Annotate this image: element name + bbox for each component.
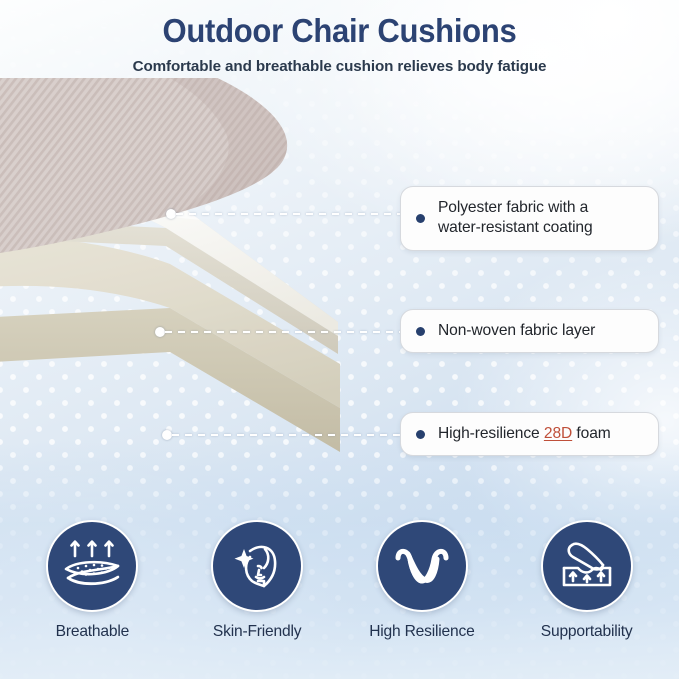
callout-line-1: Non-woven fabric layer	[438, 322, 595, 339]
leader-dash	[172, 434, 410, 436]
spring-coil-icon	[391, 541, 453, 591]
feature-label: Skin-Friendly	[213, 623, 301, 641]
callout-line-1: Polyester fabric with a	[438, 199, 588, 216]
leader-knob	[162, 430, 172, 440]
callout-text: Polyester fabric with a water-resistant …	[438, 198, 593, 239]
feature-label: Supportability	[541, 623, 633, 641]
callout-polyester-fabric: Polyester fabric with a water-resistant …	[400, 186, 659, 251]
feature-supportability: Supportability	[512, 520, 662, 641]
leader-line-polyester	[166, 209, 410, 219]
feature-icon-circle	[211, 520, 303, 612]
callout-text-prefix: High-resilience	[438, 425, 544, 442]
feature-label: High Resilience	[369, 623, 474, 641]
feature-icon-circle	[46, 520, 138, 612]
face-sparkle-icon	[228, 537, 286, 595]
infographic-root: Outdoor Chair Cushions Comfortable and b…	[0, 0, 679, 679]
callout-density-highlight: 28D	[544, 425, 572, 442]
hand-press-foam-icon	[556, 537, 618, 595]
callout-text: Non-woven fabric layer	[438, 321, 595, 341]
feature-breathable: Breathable	[17, 520, 167, 641]
leader-line-nonwoven	[155, 327, 410, 337]
callout-text: High-resilience 28D foam	[438, 424, 611, 444]
callout-text-suffix: foam	[572, 425, 611, 442]
bullet-dot-icon	[416, 327, 425, 336]
page-subtitle: Comfortable and breathable cushion relie…	[0, 58, 679, 75]
header: Outdoor Chair Cushions Comfortable and b…	[0, 14, 679, 75]
bullet-dot-icon	[416, 430, 425, 439]
leader-dash	[165, 331, 410, 333]
feature-icon-circle	[541, 520, 633, 612]
callout-non-woven-layer: Non-woven fabric layer	[400, 309, 659, 353]
leader-line-foam	[162, 430, 410, 440]
leader-knob	[155, 327, 165, 337]
leader-dash	[176, 213, 410, 215]
leader-knob	[166, 209, 176, 219]
bullet-dot-icon	[416, 214, 425, 223]
page-title: Outdoor Chair Cushions	[20, 14, 658, 49]
feature-badge-row: Breathable Skin-Friendly	[0, 520, 679, 665]
feature-skin-friendly: Skin-Friendly	[182, 520, 332, 641]
cushion-layer-illustration	[0, 78, 430, 528]
breathable-cushion-icon	[61, 537, 123, 595]
callout-line-2: water-resistant coating	[438, 219, 593, 236]
feature-high-resilience: High Resilience	[347, 520, 497, 641]
feature-label: Breathable	[56, 623, 129, 641]
feature-icon-circle	[376, 520, 468, 612]
callout-high-resilience-foam: High-resilience 28D foam	[400, 412, 659, 456]
